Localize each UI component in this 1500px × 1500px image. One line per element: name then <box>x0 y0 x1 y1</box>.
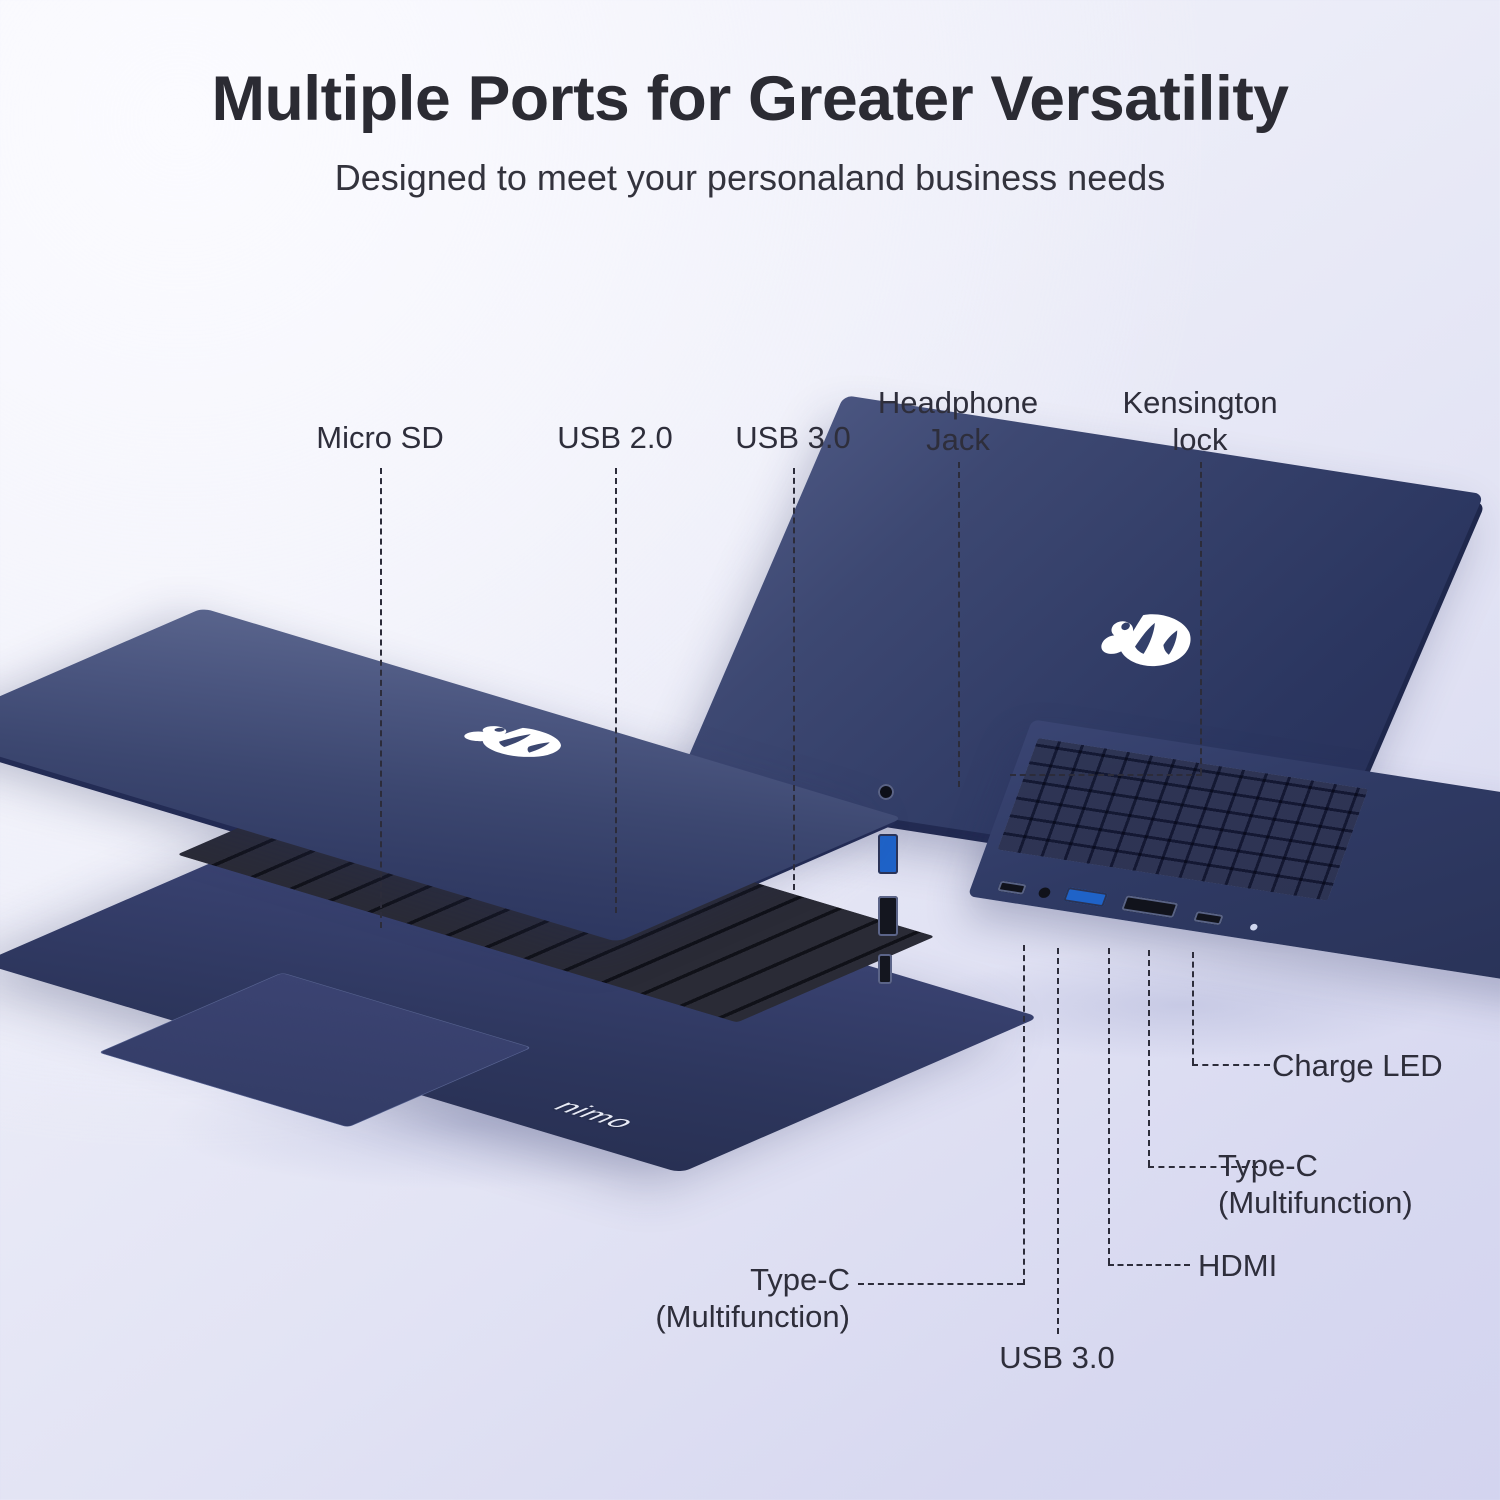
leader-line-usb-3-0-top <box>793 468 795 890</box>
callout-kensington-lock: Kensington lock <box>1080 385 1320 458</box>
leader-line-charge-led-horizontal <box>1192 1064 1270 1066</box>
leader-line-hdmi-vertical <box>1108 948 1110 1264</box>
charge-led-indicator <box>1249 923 1258 931</box>
leader-line-kensington-vertical <box>1200 462 1202 774</box>
port-headphone-jack <box>878 784 894 800</box>
leader-line-hdmi-horizontal <box>1108 1264 1190 1266</box>
port-micro-sd-slot <box>878 954 892 984</box>
port-usb-3-0 <box>878 834 898 874</box>
leader-line-charge-led-vertical <box>1192 952 1194 1064</box>
leader-line-kensington-horizontal <box>1010 774 1202 776</box>
leader-line-usb-3-0-bottom <box>1057 948 1059 1334</box>
laptop-front-open: nimo <box>40 620 1050 1240</box>
leader-line-headphone-jack <box>958 462 960 787</box>
callout-usb-3-0-bottom: USB 3.0 <box>942 1340 1172 1377</box>
port-hdmi <box>1121 895 1178 918</box>
leader-line-usb-2-0 <box>615 468 617 913</box>
callout-hdmi: HDMI <box>1198 1248 1398 1285</box>
port-usb-3-0-blue <box>1063 887 1108 907</box>
leader-line-type-c-left-horizontal <box>858 1283 1023 1285</box>
port-usb-2-0 <box>878 896 898 936</box>
callout-charge-led: Charge LED <box>1272 1048 1500 1085</box>
port-type-c-right <box>1193 911 1224 925</box>
leader-line-type-c-left-vertical <box>1023 945 1025 1285</box>
leader-line-type-c-right-vertical <box>1148 950 1150 1166</box>
callout-type-c-left: Type-C (Multifunction) <box>560 1262 850 1335</box>
callout-micro-sd: Micro SD <box>255 420 505 457</box>
callout-type-c-right: Type-C (Multifunction) <box>1218 1148 1498 1221</box>
product-illustration-stage: nimo <box>0 0 1500 1500</box>
callout-headphone-jack: Headphone Jack <box>838 385 1078 458</box>
leader-line-micro-sd <box>380 468 382 928</box>
laptop-front-side-port-column <box>878 778 918 998</box>
